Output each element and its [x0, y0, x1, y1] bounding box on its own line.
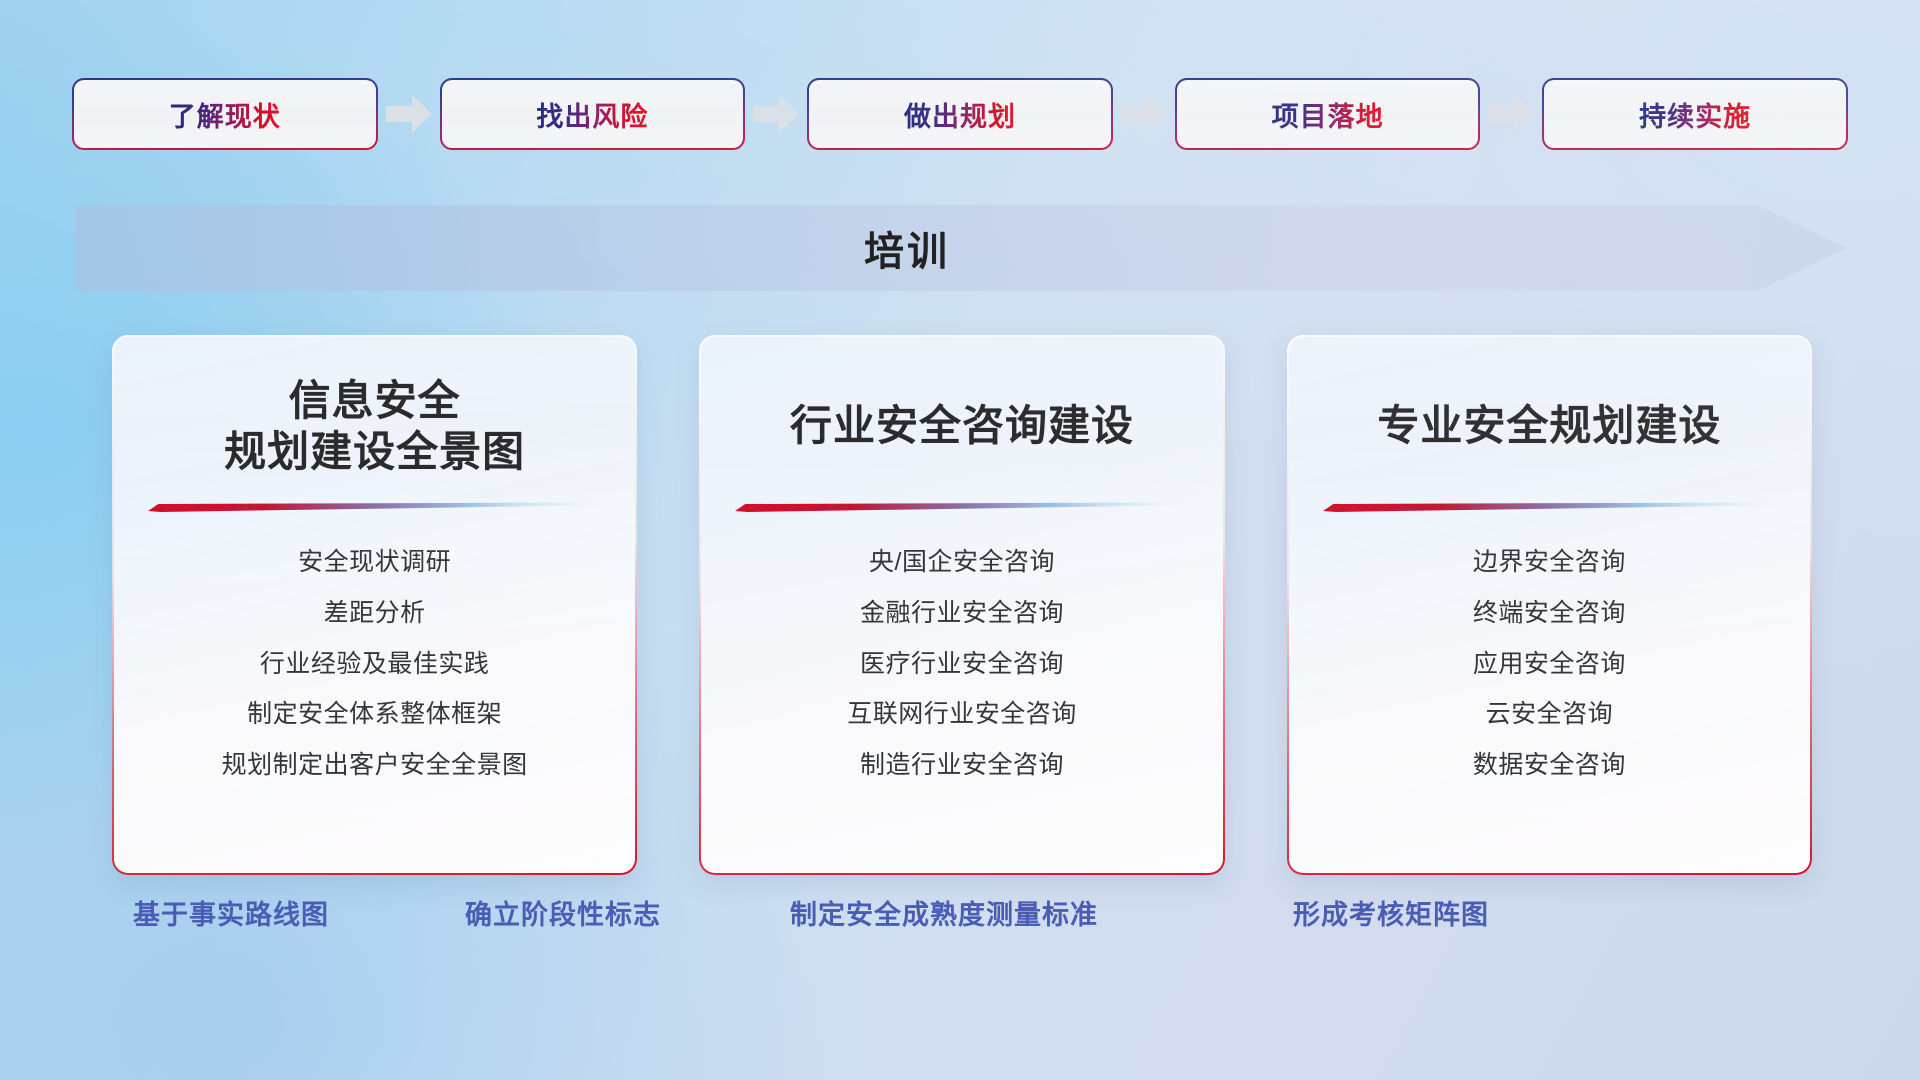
card-information-security-blueprint[interactable]: 信息安全 规划建设全景图 — [112, 335, 637, 875]
step-box-5[interactable]: 持续实施 — [1542, 78, 1848, 150]
card-divider — [1323, 499, 1776, 509]
footer-caption: 制定安全成熟度测量标准 — [790, 893, 1098, 932]
step-box-1[interactable]: 了解现状 — [72, 78, 378, 150]
arrow-right-icon — [745, 78, 807, 150]
step-label: 了解现状 — [169, 95, 281, 134]
list-item: 制造行业安全咨询 — [860, 746, 1064, 785]
list-item: 数据安全咨询 — [1473, 746, 1626, 785]
card-title-line: 专业安全规划建设 — [1377, 400, 1721, 451]
card-title: 行业安全咨询建设 — [729, 371, 1194, 481]
list-item: 规划制定出客户安全全景图 — [222, 746, 528, 785]
card-title-line: 信息安全 — [224, 375, 525, 426]
card-title-line: 规划建设全景图 — [224, 426, 525, 477]
step-box-3[interactable]: 做出规划 — [807, 78, 1113, 150]
step-box-2[interactable]: 找出风险 — [440, 78, 746, 150]
list-item: 央/国企安全咨询 — [869, 543, 1055, 582]
footer-caption: 确立阶段性标志 — [465, 893, 661, 932]
list-item: 医疗行业安全咨询 — [860, 645, 1064, 684]
list-item: 互联网行业安全咨询 — [847, 695, 1077, 734]
footer-caption-row: 基于事实路线图 确立阶段性标志 制定安全成熟度测量标准 形成考核矩阵图 — [0, 893, 1920, 953]
arrow-right-icon — [1113, 78, 1175, 150]
card-title: 专业安全规划建设 — [1317, 371, 1782, 481]
card-divider — [148, 499, 601, 509]
training-banner: 培训 — [76, 205, 1848, 291]
card-industry-security-consulting[interactable]: 行业安全咨询建设 — [699, 335, 1224, 875]
card-item-list: 央/国企安全咨询 金融行业安全咨询 医疗行业安全咨询 互联网行业安全咨询 制造行… — [729, 543, 1194, 785]
footer-caption: 基于事实路线图 — [133, 893, 329, 932]
list-item: 应用安全咨询 — [1473, 645, 1626, 684]
list-item: 制定安全体系整体框架 — [247, 695, 502, 734]
step-label: 做出规划 — [904, 95, 1016, 134]
list-item: 安全现状调研 — [298, 543, 451, 582]
footer-caption: 形成考核矩阵图 — [1293, 893, 1489, 932]
list-item: 云安全咨询 — [1486, 695, 1614, 734]
card-title: 信息安全 规划建设全景图 — [142, 371, 607, 481]
list-item: 行业经验及最佳实践 — [260, 645, 490, 684]
arrow-right-icon — [1480, 78, 1542, 150]
process-step-row: 了解现状 找出风险 做出规划 项目落地 — [72, 78, 1848, 150]
card-item-list: 安全现状调研 差距分析 行业经验及最佳实践 制定安全体系整体框架 规划制定出客户… — [142, 543, 607, 785]
list-item: 终端安全咨询 — [1473, 594, 1626, 633]
banner-label: 培训 — [76, 205, 1848, 291]
arrow-right-icon — [378, 78, 440, 150]
step-label: 持续实施 — [1639, 95, 1751, 134]
card-item-list: 边界安全咨询 终端安全咨询 应用安全咨询 云安全咨询 数据安全咨询 — [1317, 543, 1782, 785]
slide-canvas: 了解现状 找出风险 做出规划 项目落地 — [0, 0, 1920, 1080]
step-label: 项目落地 — [1272, 95, 1384, 134]
list-item: 金融行业安全咨询 — [860, 594, 1064, 633]
step-box-4[interactable]: 项目落地 — [1175, 78, 1481, 150]
card-row: 信息安全 规划建设全景图 — [112, 335, 1812, 875]
card-professional-security-planning[interactable]: 专业安全规划建设 — [1287, 335, 1812, 875]
step-label: 找出风险 — [536, 95, 648, 134]
card-divider — [735, 499, 1188, 509]
list-item: 差距分析 — [324, 594, 426, 633]
card-title-line: 行业安全咨询建设 — [790, 400, 1134, 451]
list-item: 边界安全咨询 — [1473, 543, 1626, 582]
